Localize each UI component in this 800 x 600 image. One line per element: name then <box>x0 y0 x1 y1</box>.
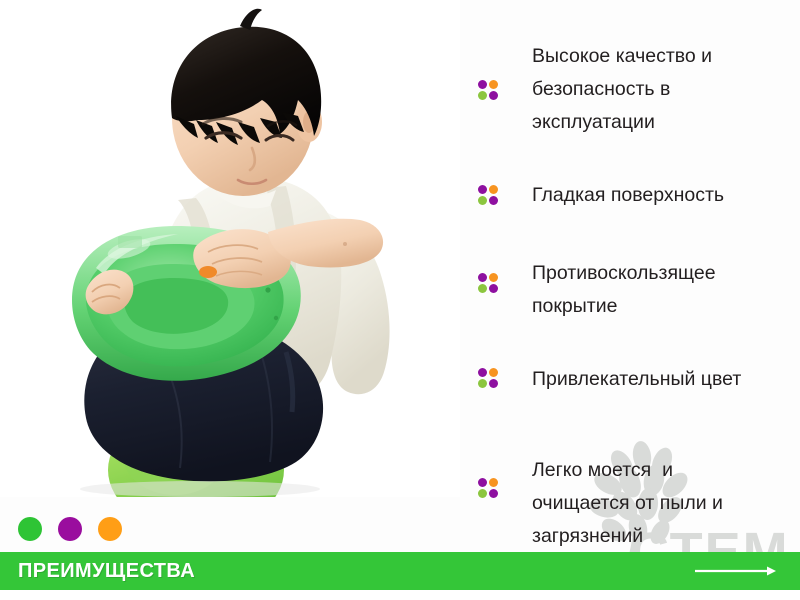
benefit-text-1: Высокое качество и безопасность в эксплу… <box>532 40 800 139</box>
bullet-dot-purple <box>489 379 498 388</box>
four-dots-bullet-icon <box>478 185 498 205</box>
banner-title: ПРЕИМУЩЕСТВА <box>18 560 195 583</box>
brand-color-dots <box>18 517 122 541</box>
bullet-dot-purple <box>478 273 487 282</box>
bullet-dot-green <box>478 91 487 100</box>
bullet-dot-purple <box>489 284 498 293</box>
bullet-dot-purple <box>478 185 487 194</box>
benefit-text-2: Гладкая поверхность <box>532 179 800 212</box>
list-item <box>460 0 800 1</box>
bullet-dot-purple <box>489 489 498 498</box>
benefit-text-3: Противоскользящее покрытие <box>532 257 800 323</box>
footer-banner: ПРЕИМУЩЕСТВА <box>0 552 800 590</box>
slide-root: СТЕМ Высокое качество и безопасность в э… <box>0 0 800 600</box>
bullet-dot-green <box>478 489 487 498</box>
bullet-dot-orange <box>489 478 498 487</box>
four-dots-bullet-icon <box>478 478 498 498</box>
color-dot-purple <box>58 517 82 541</box>
bullet-dot-purple <box>478 478 487 487</box>
benefit-text-5: Легко моется и очищается от пыли и загря… <box>532 454 800 553</box>
four-dots-bullet-icon <box>478 273 498 293</box>
bullet-dot-orange <box>489 368 498 377</box>
benefit-text-4: Привлекательный цвет <box>532 363 800 396</box>
color-dot-orange <box>98 517 122 541</box>
bullet-dot-orange <box>489 273 498 282</box>
benefits-list: Высокое качество и безопасность в эксплу… <box>460 0 800 520</box>
bullet-dot-orange <box>489 80 498 89</box>
four-dots-bullet-icon <box>478 368 498 388</box>
bullet-dot-purple <box>478 80 487 89</box>
bullet-dot-green <box>478 379 487 388</box>
banner-bottom-strip <box>0 590 800 600</box>
bullet-dot-green <box>478 196 487 205</box>
right-arrow-icon <box>695 565 777 577</box>
product-photo <box>0 0 460 497</box>
four-dots-bullet-icon <box>478 80 498 100</box>
bullet-dot-purple <box>478 368 487 377</box>
color-dot-green <box>18 517 42 541</box>
bullet-dot-purple <box>489 196 498 205</box>
bullet-dot-orange <box>489 185 498 194</box>
bullet-dot-purple <box>489 91 498 100</box>
bullet-dot-green <box>478 284 487 293</box>
